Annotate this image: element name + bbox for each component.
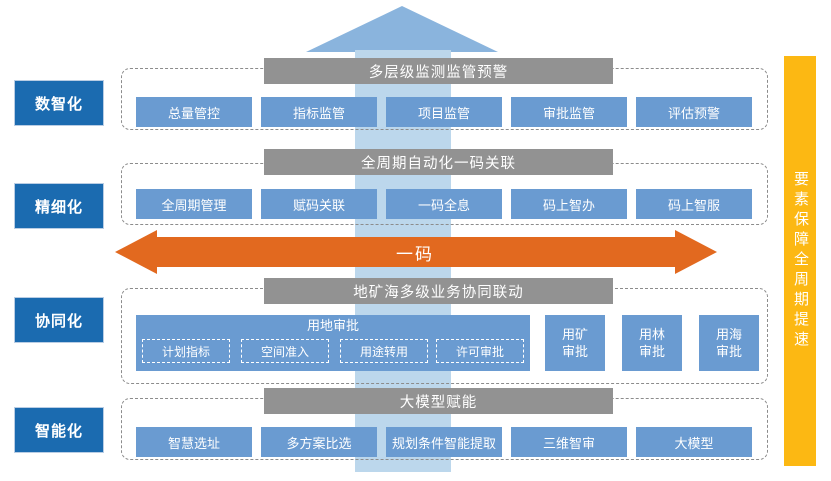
- sub-chip-label: 空间准入: [261, 343, 309, 360]
- tile-label: 项目监管: [418, 103, 470, 122]
- row-banner-label: 全周期自动化一码关联: [361, 152, 516, 173]
- right-vertical-banner-label: 要素保障全周期提速: [785, 171, 815, 351]
- tile-label: 多方案比选: [286, 433, 351, 452]
- tile-row2-3[interactable]: 一码全息: [386, 189, 502, 219]
- tile-label-line2: 审批: [639, 343, 665, 360]
- tile-row4-1[interactable]: 智慧选址: [136, 427, 252, 457]
- category-chip-zhinenghua[interactable]: 智能化: [14, 407, 104, 453]
- tile-label-line1: 用林: [639, 326, 665, 343]
- tile-label: 审批监管: [543, 103, 595, 122]
- tile-row3-mining-approval[interactable]: 用矿 审批: [545, 315, 605, 371]
- category-chip-label: 数智化: [35, 93, 83, 114]
- category-chip-label: 智能化: [35, 420, 83, 441]
- diagram-canvas: 数智化 精细化 协同化 智能化 多层级监测监管预警 全周期自动化一码关联 地矿海…: [0, 0, 831, 481]
- tile-label-line2: 审批: [562, 343, 588, 360]
- category-chip-label: 协同化: [35, 310, 83, 331]
- left-arrow-head-icon: [115, 230, 157, 274]
- tile-label: 一码全息: [418, 195, 470, 214]
- sub-chip-row3-2[interactable]: 空间准入: [241, 339, 329, 363]
- row-banner-label: 多层级监测监管预警: [369, 61, 509, 82]
- tile-label: 总量管控: [168, 103, 220, 122]
- tile-row2-1[interactable]: 全周期管理: [136, 189, 252, 219]
- upward-arrow-head-icon: [306, 6, 498, 52]
- tile-row2-4[interactable]: 码上智办: [511, 189, 627, 219]
- sub-chip-row3-1[interactable]: 计划指标: [142, 339, 230, 363]
- tile-row4-5[interactable]: 大模型: [636, 427, 752, 457]
- sub-chip-label: 计划指标: [162, 343, 210, 360]
- tile-label-line1: 用海: [716, 326, 742, 343]
- tile-row3-group-landapproval[interactable]: 用地审批 计划指标 空间准入 用途转用 许可审批: [136, 315, 530, 371]
- tile-row1-2[interactable]: 指标监管: [261, 97, 377, 127]
- tile-row3-sea-approval[interactable]: 用海 审批: [699, 315, 759, 371]
- sub-chip-label: 许可审批: [456, 343, 504, 360]
- tile-row4-3[interactable]: 规划条件智能提取: [386, 427, 502, 457]
- tile-label: 评估预警: [668, 103, 720, 122]
- category-chip-jingxihua[interactable]: 精细化: [14, 183, 104, 229]
- tile-label: 三维智审: [543, 433, 595, 452]
- tile-row2-5[interactable]: 码上智服: [636, 189, 752, 219]
- row-banner-4: 大模型赋能: [264, 388, 613, 414]
- tile-row1-1[interactable]: 总量管控: [136, 97, 252, 127]
- tile-row2-2[interactable]: 赋码关联: [261, 189, 377, 219]
- tile-row1-3[interactable]: 项目监管: [386, 97, 502, 127]
- row-banner-label: 地矿海多级业务协同联动: [353, 281, 524, 302]
- tile-row4-4[interactable]: 三维智审: [511, 427, 627, 457]
- category-chip-label: 精细化: [35, 196, 83, 217]
- sub-chip-label: 用途转用: [360, 343, 408, 360]
- tile-label: 大模型: [674, 433, 713, 452]
- sub-chip-row3-4[interactable]: 许可审批: [436, 339, 524, 363]
- category-chip-shuzhihua[interactable]: 数智化: [14, 80, 104, 126]
- orange-arrow-band: 一码: [155, 237, 675, 267]
- tile-label: 码上智服: [668, 195, 720, 214]
- row-banner-label: 大模型赋能: [400, 391, 478, 412]
- tile-label: 全周期管理: [161, 195, 226, 214]
- tile-row4-2[interactable]: 多方案比选: [261, 427, 377, 457]
- right-vertical-banner: 要素保障全周期提速: [784, 56, 816, 466]
- tile-label: 码上智办: [543, 195, 595, 214]
- tile-label: 指标监管: [293, 103, 345, 122]
- tile-label-line2: 审批: [716, 343, 742, 360]
- tile-row1-4[interactable]: 审批监管: [511, 97, 627, 127]
- orange-arrow-label: 一码: [396, 240, 434, 265]
- category-chip-xietonghua[interactable]: 协同化: [14, 297, 104, 343]
- row-banner-1: 多层级监测监管预警: [264, 58, 613, 84]
- tile-label-line1: 用矿: [562, 326, 588, 343]
- tile-label: 智慧选址: [168, 433, 220, 452]
- tile-label: 赋码关联: [293, 195, 345, 214]
- row-banner-3: 地矿海多级业务协同联动: [264, 278, 613, 304]
- tile-label: 规划条件智能提取: [392, 433, 496, 452]
- group-title-label: 用地审批: [136, 318, 530, 334]
- sub-chip-row3-3[interactable]: 用途转用: [340, 339, 428, 363]
- row-banner-2: 全周期自动化一码关联: [264, 149, 613, 175]
- right-arrow-head-icon: [675, 230, 717, 274]
- tile-row3-forest-approval[interactable]: 用林 审批: [622, 315, 682, 371]
- tile-row1-5[interactable]: 评估预警: [636, 97, 752, 127]
